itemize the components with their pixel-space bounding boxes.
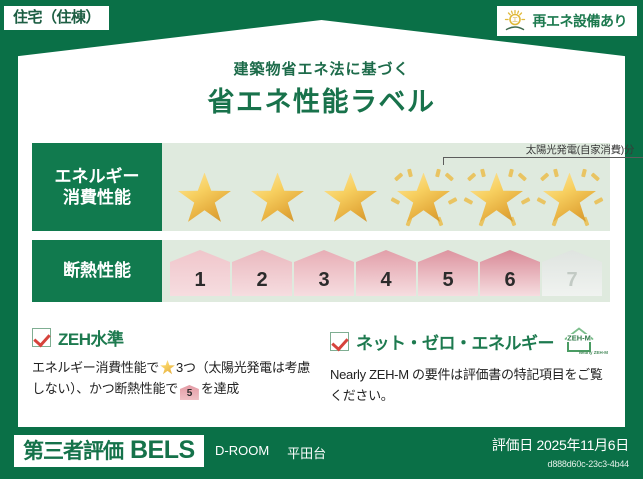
sun-icon: エ xyxy=(503,9,527,33)
zeh-heading: ZEH水準 xyxy=(32,325,317,350)
evaluation-date-value: 2025年11月6日 xyxy=(537,437,629,453)
bels-jp-label: 第三者評価 xyxy=(23,441,123,462)
insulation-performance-label-box: 断熱性能 xyxy=(32,240,162,302)
insulation-grade-6: 6 xyxy=(480,250,540,296)
solar-ray-5 xyxy=(390,197,400,204)
star-1 xyxy=(174,169,236,227)
project-info: D-ROOM 平田台 xyxy=(215,443,326,462)
energy-performance-stars-area: 太陽光発電(自家消費)分 xyxy=(162,143,610,231)
star-5 xyxy=(466,169,528,227)
solar-ray-1 xyxy=(466,172,475,181)
solar-ray-1 xyxy=(539,172,548,181)
energy-label-line1: エネルギー xyxy=(55,166,140,187)
solar-ray-3 xyxy=(407,168,412,177)
star-6 xyxy=(539,169,601,227)
insulation-grade-3: 3 xyxy=(294,250,354,296)
insulation-grade-2: 2 xyxy=(232,250,292,296)
star-4 xyxy=(393,169,455,227)
solar-ray-4 xyxy=(435,168,440,177)
star-icon xyxy=(470,173,524,225)
insulation-grade-5: 5 xyxy=(418,250,478,296)
solar-ray-2 xyxy=(444,172,453,181)
star-icon xyxy=(178,173,232,225)
star-icon xyxy=(251,173,305,225)
star-icon xyxy=(397,173,451,225)
renewable-badge-label: 再エネ設備あり xyxy=(533,14,628,28)
evaluation-info: 評価日 2025年11月6日 d888d60c-23c3-4b44 xyxy=(492,435,629,469)
zeh-description: エネルギー消費性能で3つ（太陽光発電は考慮しない）、かつ断熱性能で5を達成 xyxy=(32,357,317,400)
building-type-tag: 住宅（住棟） xyxy=(4,6,109,30)
net-zero-energy-section: ネット・ゼロ・エネルギー ZEH-M Nearly ZEH-M Nearly Z… xyxy=(330,325,615,406)
zeh-standard-section: ZEH水準 エネルギー消費性能で3つ（太陽光発電は考慮しない）、かつ断熱性能で5… xyxy=(32,325,317,400)
star-rating xyxy=(168,167,606,228)
evaluation-date-label: 評価日 xyxy=(492,437,533,453)
solar-ray-2 xyxy=(590,172,599,181)
energy-performance-label-box: エネルギー 消費性能 xyxy=(32,143,162,231)
svg-text:ZEH-M: ZEH-M xyxy=(567,334,591,343)
solar-ray-5 xyxy=(536,197,546,204)
solar-ray-6 xyxy=(520,197,530,204)
label-title: 省エネ性能ラベル xyxy=(0,80,643,119)
insulation-label: 断熱性能 xyxy=(63,260,131,281)
solar-ray-4 xyxy=(508,168,513,177)
solar-ray-3 xyxy=(553,168,558,177)
solar-ray-1 xyxy=(393,172,402,181)
solar-ray-4 xyxy=(581,168,586,177)
evaluation-date: 評価日 2025年11月6日 xyxy=(492,435,629,455)
insulation-grade-scale: 1234567 xyxy=(170,245,602,296)
star-icon xyxy=(160,360,175,375)
solar-generation-note: 太陽光発電(自家消費)分 xyxy=(430,142,643,157)
solar-ray-2 xyxy=(517,172,526,181)
energy-performance-label: 住宅（住棟） エ 再エネ設備あり 建築物省エネ法に基づく 省エネ性能ラベル エネ… xyxy=(0,0,643,479)
net-zero-heading: ネット・ゼロ・エネルギー ZEH-M Nearly ZEH-M xyxy=(330,325,615,357)
star-icon xyxy=(324,173,378,225)
net-zero-checkbox-checked-icon xyxy=(330,332,349,351)
solar-ray-3 xyxy=(480,168,485,177)
label-subtitle: 建築物省エネ法に基づく xyxy=(0,58,643,79)
zeh-desc-part3: を達成 xyxy=(201,381,239,396)
insulation-performance-row: 断熱性能 1234567 xyxy=(32,240,610,302)
zeh-title: ZEH水準 xyxy=(58,325,124,350)
bels-certification-mark: 第三者評価 BELS xyxy=(14,435,204,467)
energy-label-line2: 消費性能 xyxy=(63,187,131,208)
solar-ray-6 xyxy=(447,197,457,204)
zeh-m-badge: ZEH-M Nearly ZEH-M xyxy=(561,325,607,357)
zeh-checkbox-checked-icon xyxy=(32,328,51,347)
solar-ray-5 xyxy=(463,197,473,204)
insulation-grade-1: 1 xyxy=(170,250,230,296)
net-zero-title: ネット・ゼロ・エネルギー xyxy=(356,329,554,354)
bels-en-label: BELS xyxy=(130,438,195,463)
zeh-desc-part1: エネルギー消費性能で xyxy=(32,360,159,375)
star-icon xyxy=(543,173,597,225)
net-zero-description: Nearly ZEH-M の要件は評価書の特記項目をご覧ください。 xyxy=(330,364,615,406)
insulation-grade-area: 1234567 xyxy=(162,240,610,302)
solar-ray-6 xyxy=(593,197,603,204)
renewable-energy-badge: エ 再エネ設備あり xyxy=(497,6,638,36)
star-2 xyxy=(247,169,309,227)
insulation-grade-4: 4 xyxy=(356,250,416,296)
project-name: 平田台 xyxy=(287,443,326,462)
house-grade-icon: 5 xyxy=(180,385,199,400)
project-brand: D-ROOM xyxy=(215,443,269,462)
insulation-grade-7: 7 xyxy=(542,250,602,296)
footer-bar: 第三者評価 BELS D-ROOM 平田台 評価日 2025年11月6日 d88… xyxy=(0,427,643,479)
zeh-m-badge-sub: Nearly ZEH-M xyxy=(579,350,608,355)
evaluation-id: d888d60c-23c3-4b44 xyxy=(492,459,629,469)
star-3 xyxy=(320,169,382,227)
svg-text:エ: エ xyxy=(511,17,517,24)
solar-bracket xyxy=(443,157,643,165)
energy-performance-row: エネルギー 消費性能 太陽光発電(自家消費)分 xyxy=(32,143,610,231)
